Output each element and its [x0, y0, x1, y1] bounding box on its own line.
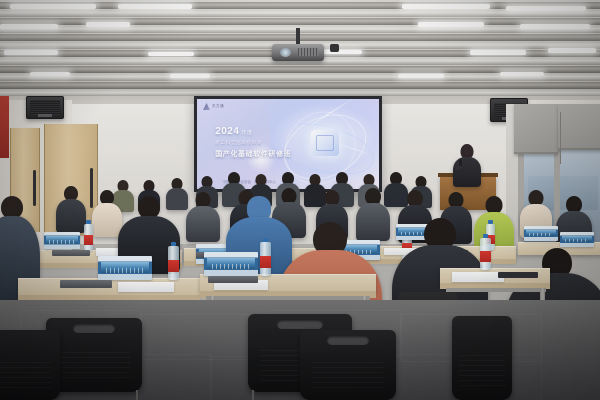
water-bottle — [84, 224, 93, 251]
name-tent-card — [44, 232, 80, 249]
folder — [208, 276, 258, 283]
projector-lens — [280, 48, 291, 57]
name-tent-card — [98, 256, 152, 280]
name-tent-card — [204, 252, 258, 276]
floor-shading — [0, 300, 600, 400]
attendee — [56, 186, 86, 230]
ceiling-camera — [330, 44, 339, 52]
table-rail — [446, 288, 546, 292]
red-banner — [0, 96, 9, 158]
microphone — [459, 159, 462, 166]
window-blind[interactable] — [514, 104, 558, 154]
laptop[interactable] — [498, 272, 538, 278]
projector-mount — [296, 28, 300, 44]
handout — [118, 282, 174, 292]
water-bottle — [260, 242, 271, 276]
projector — [272, 44, 324, 61]
water-bottle — [480, 238, 491, 270]
wall-speaker-left — [26, 96, 64, 119]
photo-scene: 东方通 2024年度 新工科全国高校师资 国产化基础软件研修班 中国软件行业协会… — [0, 0, 600, 400]
name-tent-card — [560, 232, 594, 247]
name-tent-card — [524, 226, 558, 241]
window-blind[interactable] — [558, 104, 600, 150]
projector-vent — [298, 48, 318, 56]
blind-cord[interactable] — [560, 112, 561, 164]
folder — [60, 280, 112, 288]
attendee — [186, 192, 220, 238]
folder — [52, 250, 90, 256]
water-bottle — [168, 246, 179, 280]
handout — [452, 272, 504, 282]
presenter — [452, 144, 482, 184]
